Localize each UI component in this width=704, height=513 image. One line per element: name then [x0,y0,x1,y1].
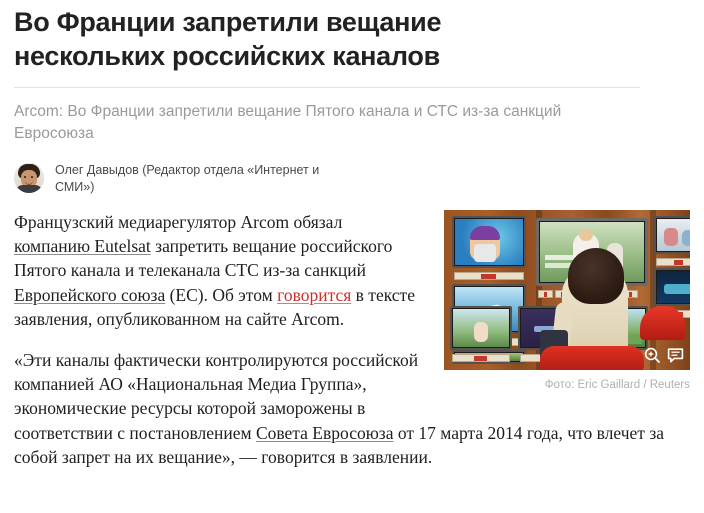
link-european-union[interactable]: Европейского союза [14,285,165,305]
article-body: Фото: Eric Gaillard / Reuters Французски… [14,210,690,469]
photo-overlay-actions[interactable] [644,347,684,364]
page-title: Во Франции запретили вещание нескольких … [14,5,574,73]
comment-icon[interactable] [667,347,684,364]
article-photo[interactable] [444,210,690,370]
article-figure: Фото: Eric Gaillard / Reuters [444,210,690,393]
article-page: Во Франции запретили вещание нескольких … [0,5,704,513]
para1-text-3: (ЕС). Об этом [165,285,277,305]
avatar [14,163,44,193]
link-eutelsat[interactable]: компанию Eutelsat [14,236,151,256]
author-name[interactable]: Олег Давыдов (Редактор отдела «Интернет … [55,162,345,196]
zoom-in-icon[interactable] [644,347,661,364]
article-subtitle: Arcom: Во Франции запретили вещание Пято… [14,101,634,145]
link-council-of-eu[interactable]: Совета Евросоюза [256,423,394,443]
header-divider [14,87,640,88]
photo-caption: Фото: Eric Gaillard / Reuters [444,377,690,393]
link-govoritsya[interactable]: говорится [277,285,351,305]
author-byline[interactable]: Олег Давыдов (Редактор отдела «Интернет … [14,162,690,196]
para1-text-1: Французский медиарегулятор Arcom обязал [14,212,342,232]
